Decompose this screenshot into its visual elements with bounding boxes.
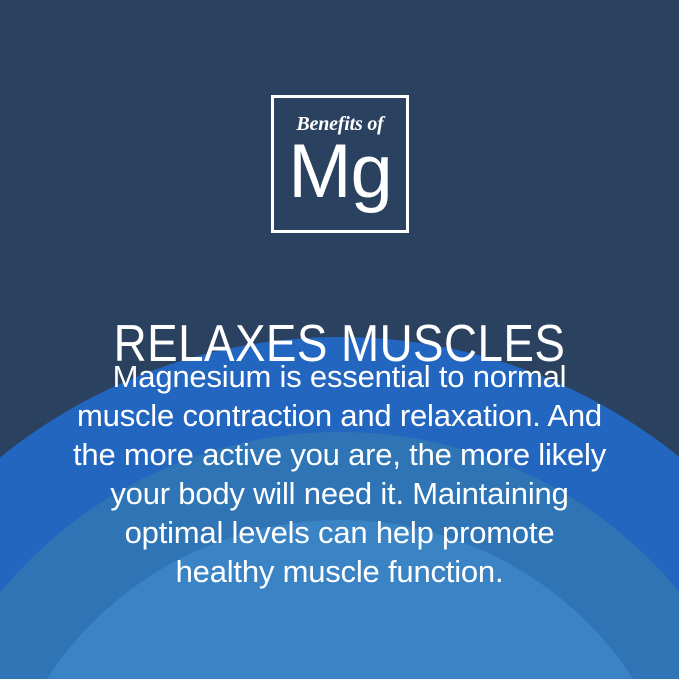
logo-element-symbol-mg: Mg — [288, 135, 392, 209]
body-line: Magnesium is essential to normal — [50, 357, 630, 396]
magnesium-benefit-poster: Benefits of Mg RELAXES MUSCLES Magnesium… — [0, 0, 679, 679]
poster-content: Benefits of Mg RELAXES MUSCLES Magnesium… — [0, 0, 679, 679]
body-line: the more active you are, the more likely — [50, 435, 630, 474]
body-line: muscle contraction and relaxation. And — [50, 396, 630, 435]
benefits-of-mg-logo: Benefits of Mg — [271, 95, 409, 233]
body-line: healthy muscle function. — [50, 552, 630, 591]
body-line: your body will need it. Maintaining — [50, 474, 630, 513]
body-line: optimal levels can help promote — [50, 513, 630, 552]
body-paragraph: Magnesium is essential to normal muscle … — [50, 357, 630, 591]
